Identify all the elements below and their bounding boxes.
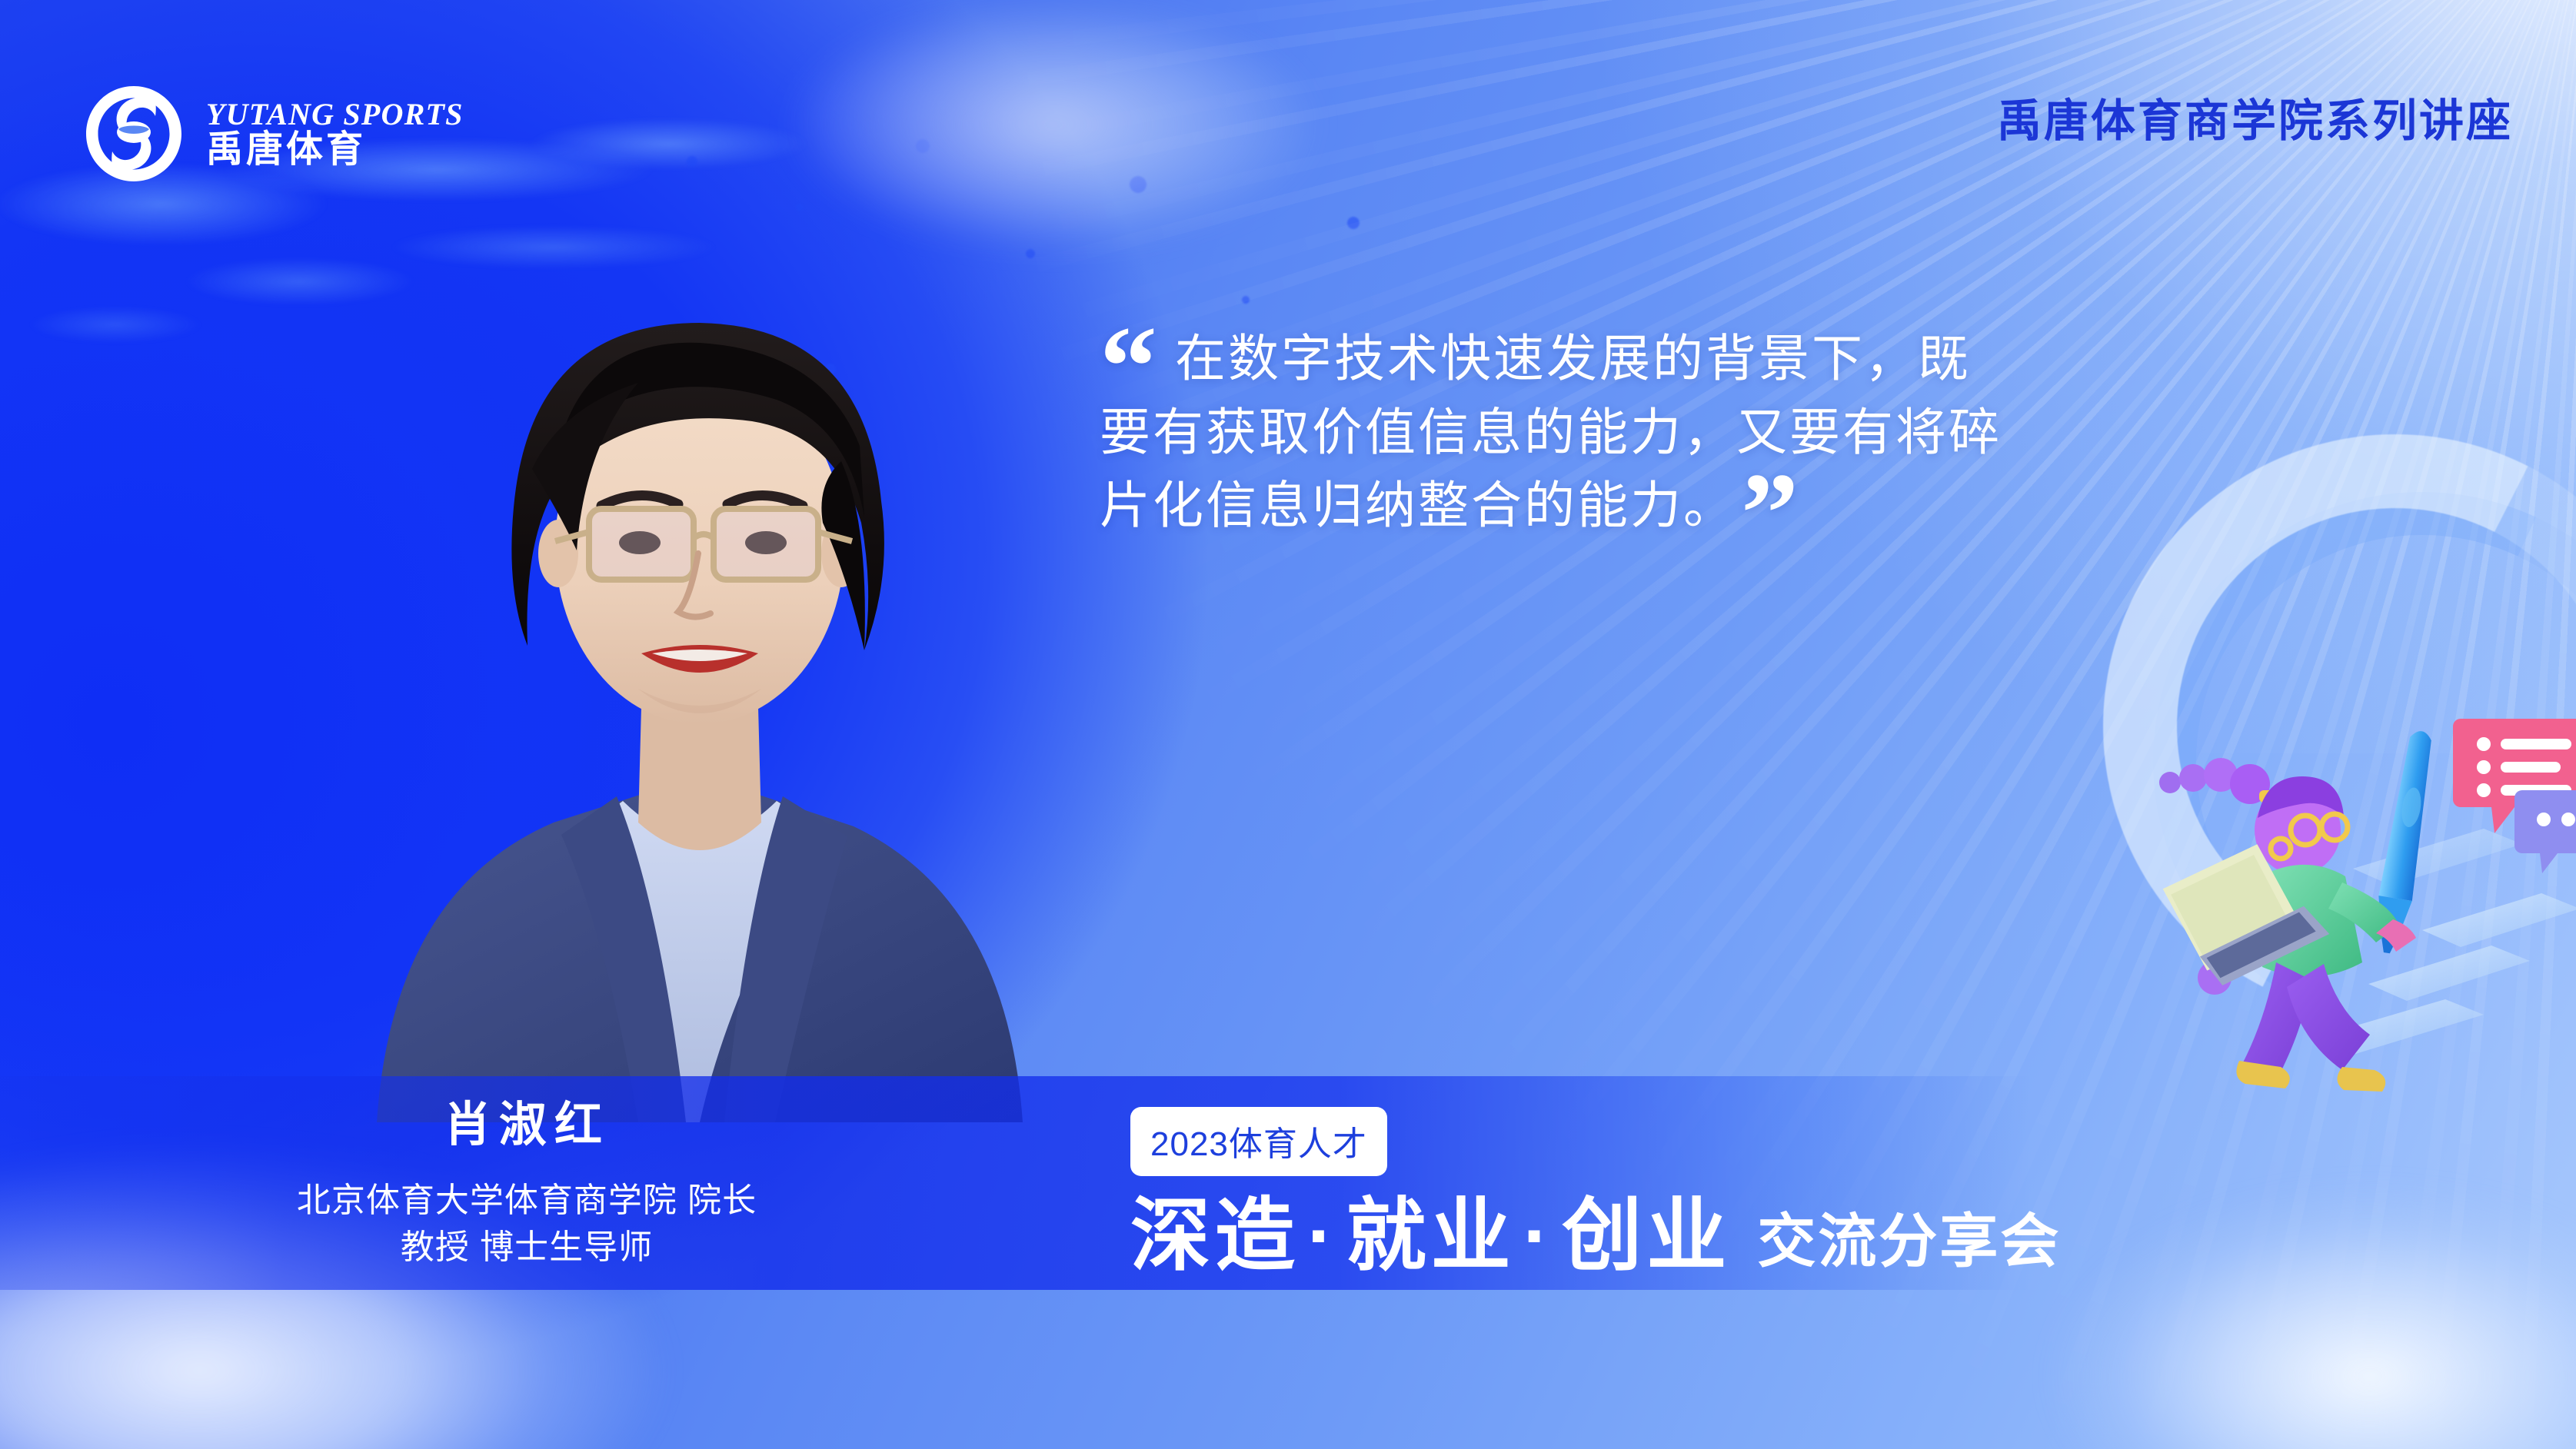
event-title-part-3: 创业 xyxy=(1562,1191,1731,1281)
event-title-part-2: 就业 xyxy=(1346,1191,1516,1281)
event-badge: 2023体育人才 xyxy=(1130,1107,1387,1176)
event-subtitle: 交流分享会 xyxy=(1757,1211,2061,1276)
logo-chinese-text: 禹唐体育 xyxy=(206,131,464,168)
quote-line-2: 要有获取价值信息的能力，又要有将碎 xyxy=(1100,405,2002,461)
series-title: 禹唐体育商学院系列讲座 xyxy=(1997,85,2513,149)
quote-line-3: 片化信息归纳整合的能力。 xyxy=(1100,478,1736,534)
speaker-title-line-2: 教授 博士生导师 xyxy=(0,1225,1053,1271)
quote-line-1: 在数字技术快速发展的背景下，既 xyxy=(1175,331,1971,387)
speaker-title-line-1: 北京体育大学体育商学院 院长 xyxy=(0,1178,1053,1225)
event-info: 2023体育人才 深造·就业·创业 交流分享会 xyxy=(1130,1107,2061,1276)
speaker-portrait xyxy=(331,215,1069,1122)
chat-bubble-purple xyxy=(2514,790,2576,873)
speaker-info: 肖淑红 北京体育大学体育商学院 院长 教授 博士生导师 xyxy=(0,1099,1053,1271)
quote-text: “在数字技术快速发展的背景下，既 要有获取价值信息的能力，又要有将碎 片化信息归… xyxy=(1100,323,2199,543)
yutang-swirl-logo-icon xyxy=(85,85,183,183)
event-title-part-1: 深造 xyxy=(1130,1191,1300,1281)
event-title-separator-1: · xyxy=(1300,1191,1346,1281)
event-title-separator-2: · xyxy=(1516,1191,1563,1281)
stairs-illustration xyxy=(2122,676,2576,1107)
event-title: 深造·就业·创业 xyxy=(1130,1196,1731,1276)
brand-logo[interactable]: YUTANG SPORTS 禹唐体育 xyxy=(85,85,464,183)
event-title-row: 深造·就业·创业 交流分享会 xyxy=(1130,1196,2061,1276)
poster-canvas: YUTANG SPORTS 禹唐体育 禹唐体育商学院系列讲座 xyxy=(0,0,2576,1449)
logo-english-text: YUTANG SPORTS xyxy=(206,99,464,130)
speaker-titles: 北京体育大学体育商学院 院长 教授 博士生导师 xyxy=(0,1178,1053,1271)
quote-block: “在数字技术快速发展的背景下，既 要有获取价值信息的能力，又要有将碎 片化信息归… xyxy=(1100,323,2199,543)
speaker-name: 肖淑红 xyxy=(0,1099,1053,1152)
